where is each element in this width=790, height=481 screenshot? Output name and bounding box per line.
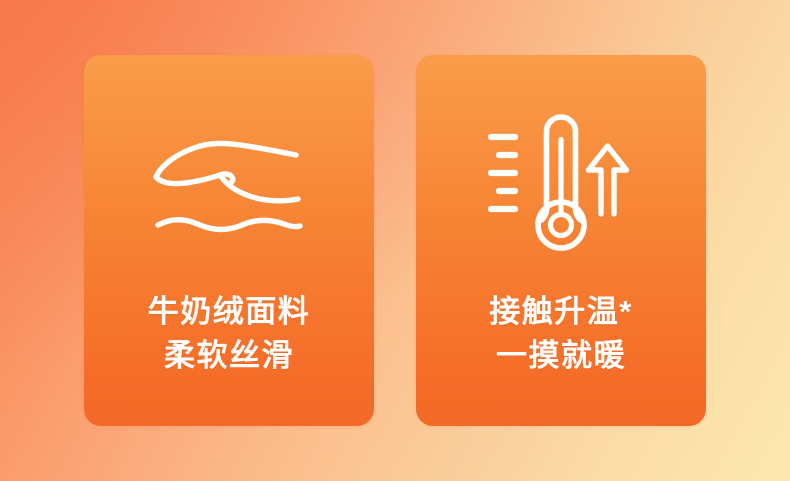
promo-banner: 牛奶绒面料 柔软丝滑 [0,0,790,481]
feature-card-warmth[interactable]: 接触升温* 一摸就暖 [416,55,706,426]
feature-card-fabric[interactable]: 牛奶绒面料 柔软丝滑 [84,55,374,426]
hand-stroking-fabric-icon [84,133,374,243]
feature-card-caption: 接触升温* 一摸就暖 [416,290,706,378]
thermometer-rising-temperature-icon [416,113,706,258]
feature-card-row: 牛奶绒面料 柔软丝滑 [0,0,790,481]
caption-line-1: 接触升温* [416,290,706,334]
caption-line-2: 一摸就暖 [416,334,706,378]
caption-line-1: 牛奶绒面料 [84,290,374,334]
feature-card-caption: 牛奶绒面料 柔软丝滑 [84,290,374,378]
caption-line-2: 柔软丝滑 [84,334,374,378]
